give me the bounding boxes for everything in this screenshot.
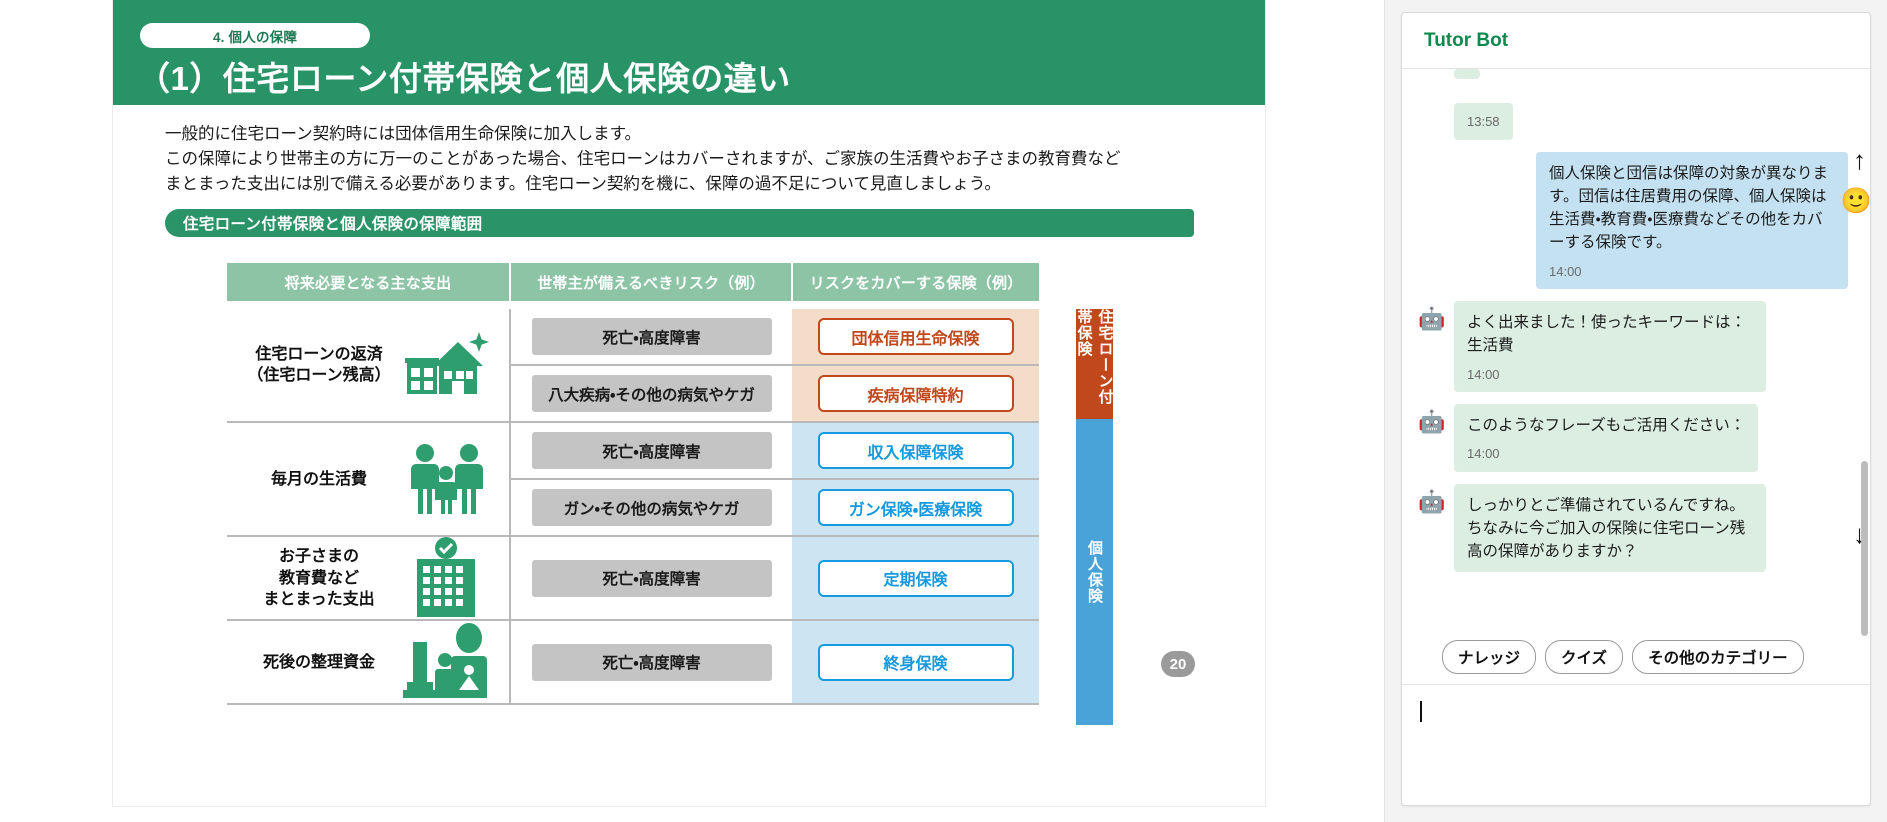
message-time: 14:00 [1549,262,1835,282]
intro-line-3: まとまった支出には別で備える必要があります。住宅ローン契約を機に、保障の過不足に… [165,172,1225,197]
intro-line-2: この保障により世帯主の方に万一のことがあった場合、住宅ローンはカバーされますが、… [165,147,1225,172]
table-row: 住宅ローンの返済 （住宅ローン残高） [227,309,1039,365]
slide-body: 一般的に住宅ローン契約時には団体信用生命保険に加入します。 この保障により世帯主… [113,122,1265,705]
risk-cell: 死亡・高度障害 [510,422,792,479]
table-row: 毎月の生活費 [227,422,1039,479]
page-number-badge: 20 [1161,651,1195,677]
category-label-education: お子さまの 教育費など まとまった支出 [243,546,395,610]
slide: 4. 個人の保障 （1）住宅ローン付帯保険と個人保険の違い 一般的に住宅ローン契… [113,0,1265,806]
message-item: 個人保険と団信は保障の対象が異なります。団信は住居費用の保障、個人保険は生活費・… [1418,152,1848,290]
message-bubble [1454,69,1480,79]
side-label-personal-insurance: 個人保険 [1076,419,1113,725]
bot-avatar-icon: 🤖 [1418,488,1446,516]
section-chip: 4. 個人の保障 [140,23,370,48]
school-icon [399,537,493,619]
category-label-funeral: 死後の整理資金 [243,652,395,673]
side-label-loan-insurance: 住宅ローン付帯保険 [1076,309,1113,419]
message-time: 13:58 [1467,112,1500,132]
column-header-expenses: 将来必要となる主な支出 [227,263,510,301]
bot-avatar-icon: 🤖 [1418,408,1446,436]
side-label-column: 住宅ローン付帯保険 個人保険 [1039,263,1076,705]
table-header-row: 将来必要となる主な支出 世帯主が備えるべきリスク（例） リスクをカバーする保険（… [227,263,1039,301]
risk-label: 八大疾病・その他の病気やケガ [532,375,772,412]
coverage-label: ガン保険・医療保険 [818,489,1014,526]
risk-cell: 死亡・高度障害 [510,309,792,365]
table-row: 死後の整理資金 [227,620,1039,704]
category-cell-living: 毎月の生活費 [227,422,510,536]
chat-pane: Tutor Bot 13:58 個人保険と団信は保障の対象が異なります。団信は住… [1385,0,1887,822]
message-time: 14:00 [1467,365,1753,385]
risk-label: 死亡・高度障害 [532,644,772,681]
message-bubble: しっかりとご準備されているんですね。ちなみに今ご加入の保険に住宅ローン残高の保障… [1454,484,1766,572]
message-text: 個人保険と団信は保障の対象が異なります。団信は住居費用の保障、個人保険は生活費・… [1549,165,1828,252]
message-bubble: 13:58 [1454,103,1513,140]
risk-label: 死亡・高度障害 [532,560,772,597]
reaction-emoji-icon[interactable]: 🙂 [1841,187,1870,216]
coverage-cell: ガン保険・医療保険 [792,479,1039,536]
coverage-cell: 定期保険 [792,536,1039,620]
table-spacer-row [227,301,1039,309]
coverage-label: 団体信用生命保険 [818,318,1014,355]
page-title: （1）住宅ローン付帯保険と個人保険の違い [137,52,791,100]
message-item: 🤖 よく出来ました！使ったキーワードは： 生活費 14:00 [1418,301,1848,392]
house-icon [399,324,493,406]
slide-viewer-pane: 4. 個人の保障 （1）住宅ローン付帯保険と個人保険の違い 一般的に住宅ローン契… [0,0,1385,822]
message-item: 13:58 [1418,103,1848,140]
category-cell-loan: 住宅ローンの返済 （住宅ローン残高） [227,309,510,422]
category-cell-education: お子さまの 教育費など まとまった支出 [227,536,510,620]
scroll-up-icon[interactable]: ↑ [1853,147,1866,173]
risk-cell: ガン・その他の病気やケガ [510,479,792,536]
chat-message-list[interactable]: 13:58 個人保険と団信は保障の対象が異なります。団信は住居費用の保障、個人保… [1402,69,1870,636]
risk-cell: 死亡・高度障害 [510,620,792,704]
bot-avatar-icon: 🤖 [1418,305,1446,333]
message-text: しっかりとご準備されているんですね。ちなみに今ご加入の保険に住宅ローン残高の保障… [1467,497,1745,561]
application-window: 4. 個人の保障 （1）住宅ローン付帯保険と個人保険の違い 一般的に住宅ローン契… [0,0,1887,822]
coverage-table-wrapper: 将来必要となる主な支出 世帯主が備えるべきリスク（例） リスクをカバーする保険（… [227,263,1039,705]
message-text: このようなフレーズもご活用ください： [1467,417,1745,434]
table-head: 将来必要となる主な支出 世帯主が備えるべきリスク（例） リスクをカバーする保険（… [227,263,1039,301]
coverage-cell: 終身保険 [792,620,1039,704]
chat-card: Tutor Bot 13:58 個人保険と団信は保障の対象が異なります。団信は住… [1401,12,1871,806]
table-body: 住宅ローンの返済 （住宅ローン残高） [227,301,1039,704]
risk-cell: 死亡・高度障害 [510,536,792,620]
chat-scrollbar[interactable] [1861,461,1868,636]
column-header-risks: 世帯主が備えるべきリスク（例） [510,263,792,301]
risk-label: 死亡・高度障害 [532,432,772,469]
section-band: 住宅ローン付帯保険と個人保険の保障範囲 [165,209,1194,237]
category-label-living: 毎月の生活費 [243,469,395,490]
table-row: お子さまの 教育費など まとまった支出 [227,536,1039,620]
risk-label: 死亡・高度障害 [532,318,772,355]
risk-label: ガン・その他の病気やケガ [532,489,772,526]
message-time: 14:00 [1467,444,1745,464]
chip-knowledge[interactable]: ナレッジ [1442,640,1536,674]
message-item [1418,69,1848,95]
message-item: 🤖 しっかりとご準備されているんですね。ちなみに今ご加入の保険に住宅ローン残高の… [1418,484,1848,572]
coverage-label: 疾病保障特約 [818,375,1014,412]
family-icon [399,438,493,520]
coverage-label: 定期保険 [818,560,1014,597]
message-composer[interactable] [1402,685,1870,805]
risk-cell: 八大疾病・その他の病気やケガ [510,365,792,422]
chip-other-categories[interactable]: その他のカテゴリー [1632,640,1804,674]
coverage-table: 将来必要となる主な支出 世帯主が備えるべきリスク（例） リスクをカバーする保険（… [227,263,1039,705]
coverage-label: 収入保障保険 [818,432,1014,469]
coverage-cell: 収入保障保険 [792,422,1039,479]
intro-line-1: 一般的に住宅ローン契約時には団体信用生命保険に加入します。 [165,122,1225,147]
coverage-cell: 団体信用生命保険 [792,309,1039,365]
quick-reply-chips: ナレッジ クイズ その他のカテゴリー [1402,636,1870,684]
coverage-cell: 疾病保障特約 [792,365,1039,422]
message-bubble: よく出来ました！使ったキーワードは： 生活費 14:00 [1454,301,1766,392]
column-header-coverage: リスクをカバーする保険（例） [792,263,1039,301]
grave-family-icon [399,621,493,703]
slide-header: 4. 個人の保障 （1）住宅ローン付帯保険と個人保険の違い [113,0,1265,105]
coverage-label: 終身保険 [818,644,1014,681]
message-bubble: 個人保険と団信は保障の対象が異なります。団信は住居費用の保障、個人保険は生活費・… [1536,152,1848,290]
message-item: 🤖 このようなフレーズもご活用ください： 14:00 [1418,404,1848,472]
category-cell-funeral: 死後の整理資金 [227,620,510,704]
intro-paragraph: 一般的に住宅ローン契約時には団体信用生命保険に加入します。 この保障により世帯主… [165,122,1225,197]
category-label-loan: 住宅ローンの返済 （住宅ローン残高） [243,344,395,387]
chat-title: Tutor Bot [1402,13,1870,69]
chip-quiz[interactable]: クイズ [1545,640,1623,674]
message-text: よく出来ました！使ったキーワードは： 生活費 [1467,314,1746,354]
message-bubble: このようなフレーズもご活用ください： 14:00 [1454,404,1758,472]
text-caret [1420,701,1422,722]
